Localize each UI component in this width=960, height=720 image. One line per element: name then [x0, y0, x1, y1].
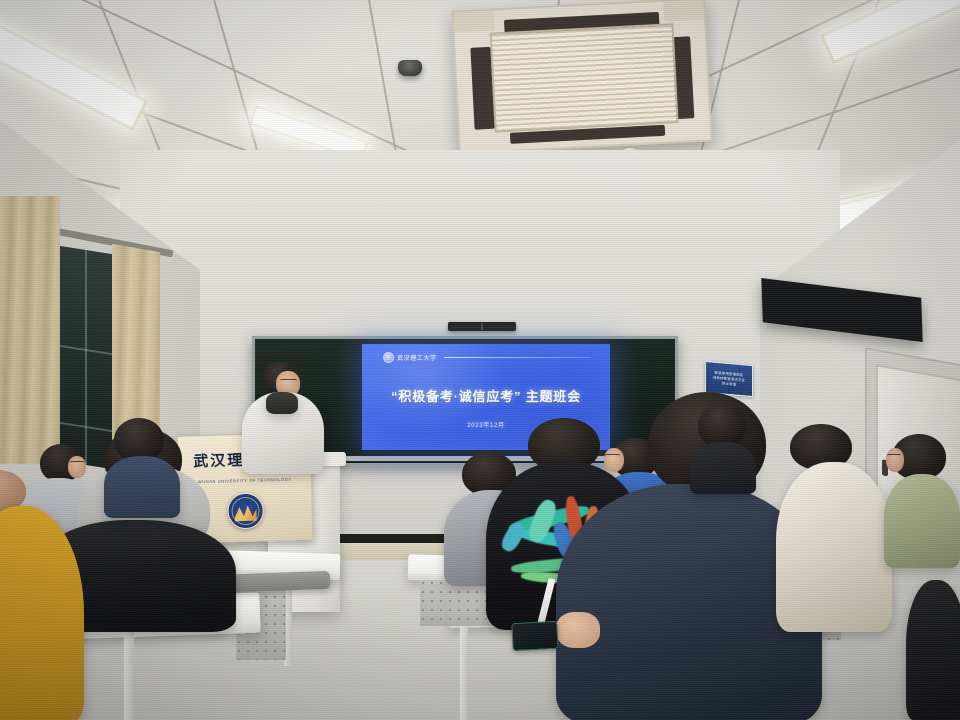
student-jacket	[906, 580, 960, 720]
slide-logo-text: 武汉理工大学	[397, 353, 437, 362]
desk-leg	[460, 622, 468, 720]
ceiling-cassette-air-conditioner	[451, 0, 712, 155]
classroom-photo: 教室使用管理规定 请保持教室清洁卫生 禁止吸烟 武汉理工大学 “积极备考·诚信应…	[0, 0, 960, 720]
window-curtain-left	[0, 196, 60, 464]
student-mustard-jacket	[0, 470, 84, 720]
student-olive-jacket	[884, 434, 960, 564]
presenter-collar	[266, 392, 298, 414]
student-cream-puffer	[776, 424, 892, 630]
slide-divider	[444, 357, 592, 358]
desk-leg	[124, 630, 134, 720]
student-top	[690, 442, 756, 494]
student-jacket	[0, 506, 84, 720]
student-face	[886, 448, 904, 472]
slide-logo-row: 武汉理工大学	[383, 352, 591, 363]
student-top	[104, 456, 180, 518]
projector-mount-bar	[448, 322, 516, 331]
plaque-line-3: 禁止吸烟	[722, 381, 736, 386]
student-puffer-jacket	[776, 462, 892, 632]
student-far-back	[690, 404, 756, 488]
ceiling-camera-icon	[398, 60, 422, 76]
presenter-glasses-icon	[280, 379, 297, 383]
student-glasses-icon	[887, 454, 901, 458]
student-jacket	[884, 474, 960, 568]
smartphone-on-desk[interactable]	[511, 621, 558, 651]
university-logo-icon	[383, 352, 394, 363]
student-right-edge-dark	[906, 580, 960, 720]
student-hand	[556, 612, 600, 648]
presenter	[238, 362, 334, 472]
student-navy-top	[104, 418, 180, 514]
